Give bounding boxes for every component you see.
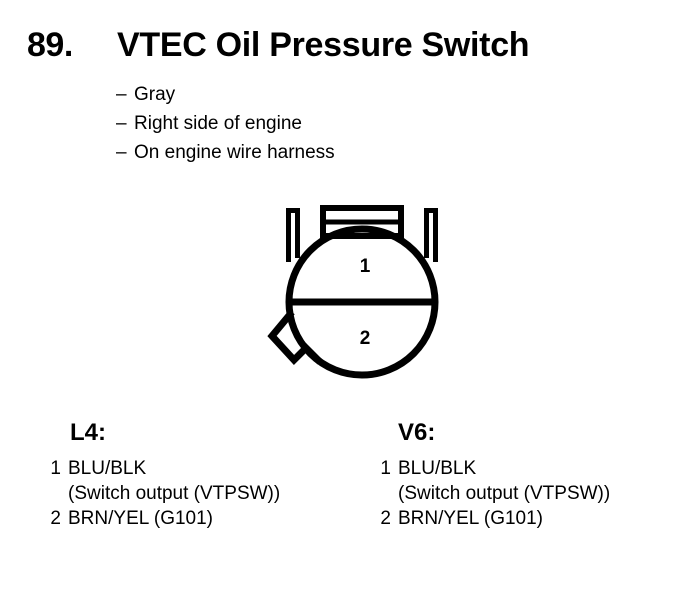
pin-wire-color: BLU/BLK (68, 456, 370, 481)
attribute-item-location: – Right side of engine (116, 109, 546, 138)
pin-wire-color: BRN/YEL (G101) (398, 506, 688, 531)
pin-number: 1 (47, 456, 61, 481)
pin-row: 1 BLU/BLK (Switch output (VTPSW)) (40, 456, 370, 506)
connector-left-prong (286, 208, 300, 262)
page-title: VTEC Oil Pressure Switch (117, 26, 529, 64)
pinout-heading-v6: V6: (370, 418, 688, 456)
attribute-label: Right side of engine (134, 113, 302, 134)
pin-row: 1 BLU/BLK (Switch output (VTPSW)) (370, 456, 688, 506)
attribute-item-harness: – On engine wire harness (116, 138, 546, 167)
pin-number: 2 (377, 506, 391, 531)
terminal-label-1: 1 (360, 256, 371, 277)
attribute-label: Gray (134, 84, 175, 105)
attribute-list: – Gray – Right side of engine – On engin… (116, 80, 546, 167)
connector-illustration: 1 2 (262, 196, 462, 386)
pinout-column-l4: L4: 1 BLU/BLK (Switch output (VTPSW)) 2 … (40, 418, 370, 531)
terminal-label-2: 2 (360, 328, 371, 349)
pin-description: (Switch output (VTPSW)) (68, 481, 370, 506)
connector-right-prong (424, 208, 438, 262)
pin-wire-color: BLU/BLK (398, 456, 688, 481)
dash-icon: – (116, 80, 127, 109)
pin-description: (Switch output (VTPSW)) (398, 481, 688, 506)
pinout-column-v6: V6: 1 BLU/BLK (Switch output (VTPSW)) 2 … (370, 418, 688, 531)
pin-number: 1 (377, 456, 391, 481)
pin-row: 2 BRN/YEL (G101) (40, 506, 370, 531)
pin-wire-color: BRN/YEL (G101) (68, 506, 370, 531)
pin-number: 2 (47, 506, 61, 531)
pinout-heading-l4: L4: (40, 418, 370, 456)
attribute-item-color: – Gray (116, 80, 546, 109)
dash-icon: – (116, 109, 127, 138)
attribute-label: On engine wire harness (134, 142, 335, 163)
dash-icon: – (116, 138, 127, 167)
pin-row: 2 BRN/YEL (G101) (370, 506, 688, 531)
connector-diagram: 1 2 (262, 196, 462, 386)
entry-number: 89. (27, 26, 73, 64)
